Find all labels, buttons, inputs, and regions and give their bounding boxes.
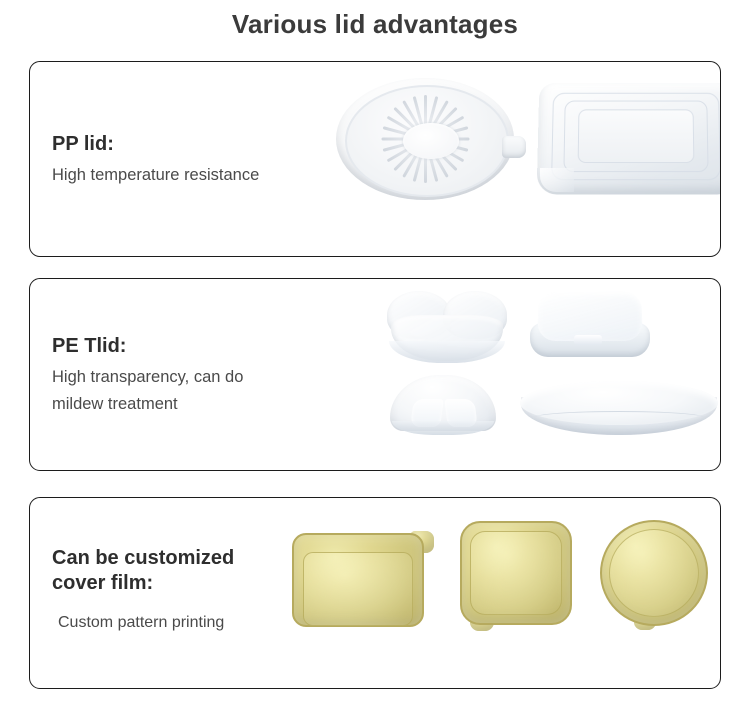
rectangular-gold-foil-film-image: [292, 525, 434, 627]
rectangular-pp-lid-image: [538, 82, 721, 204]
panel-pp-subtitle: High temperature resistance: [52, 162, 259, 189]
foil-round-plate: [600, 520, 708, 626]
panel-cover-film: Can be customized cover film: Custom pat…: [29, 497, 721, 689]
round-ribbed-pp-lid-image: [336, 78, 526, 203]
panel-film-heading: Can be customized cover film:: [52, 546, 234, 596]
heart-shaped-pet-lid-image: [385, 289, 510, 367]
round-gold-foil-film-image: [600, 520, 718, 636]
panel-pp-heading: PP lid:: [52, 132, 259, 157]
round-dome-pet-lid-image: [390, 375, 498, 437]
foil-rect-plate: [292, 533, 424, 627]
panel-pet-text-block: PE Tlid: High transparency, can do milde…: [52, 334, 243, 418]
panel-pet-subtitle: High transparency, can do mildew treatme…: [52, 364, 243, 418]
panel-pet-heading: PE Tlid:: [52, 334, 243, 359]
oval-pet-lid-image: [520, 381, 720, 439]
page-title: Various lid advantages: [0, 8, 750, 40]
foil-square-plate: [460, 521, 572, 625]
square-dome-pet-lid-image: [530, 291, 652, 363]
panel-pp-text-block: PP lid: High temperature resistance: [52, 132, 259, 189]
pp-lid-tab: [502, 136, 526, 158]
panel-pet-lid: PE Tlid: High transparency, can do milde…: [29, 278, 721, 471]
panel-film-text-block: Can be customized cover film: Custom pat…: [52, 546, 234, 636]
pp-lid-center-hub: [403, 123, 459, 159]
panel-pp-lid: PP lid: High temperature resistance: [29, 61, 721, 257]
square-gold-foil-film-image: [460, 521, 582, 633]
panel-film-subtitle: Custom pattern printing: [52, 609, 234, 636]
pp-rect-corner: [540, 168, 574, 192]
